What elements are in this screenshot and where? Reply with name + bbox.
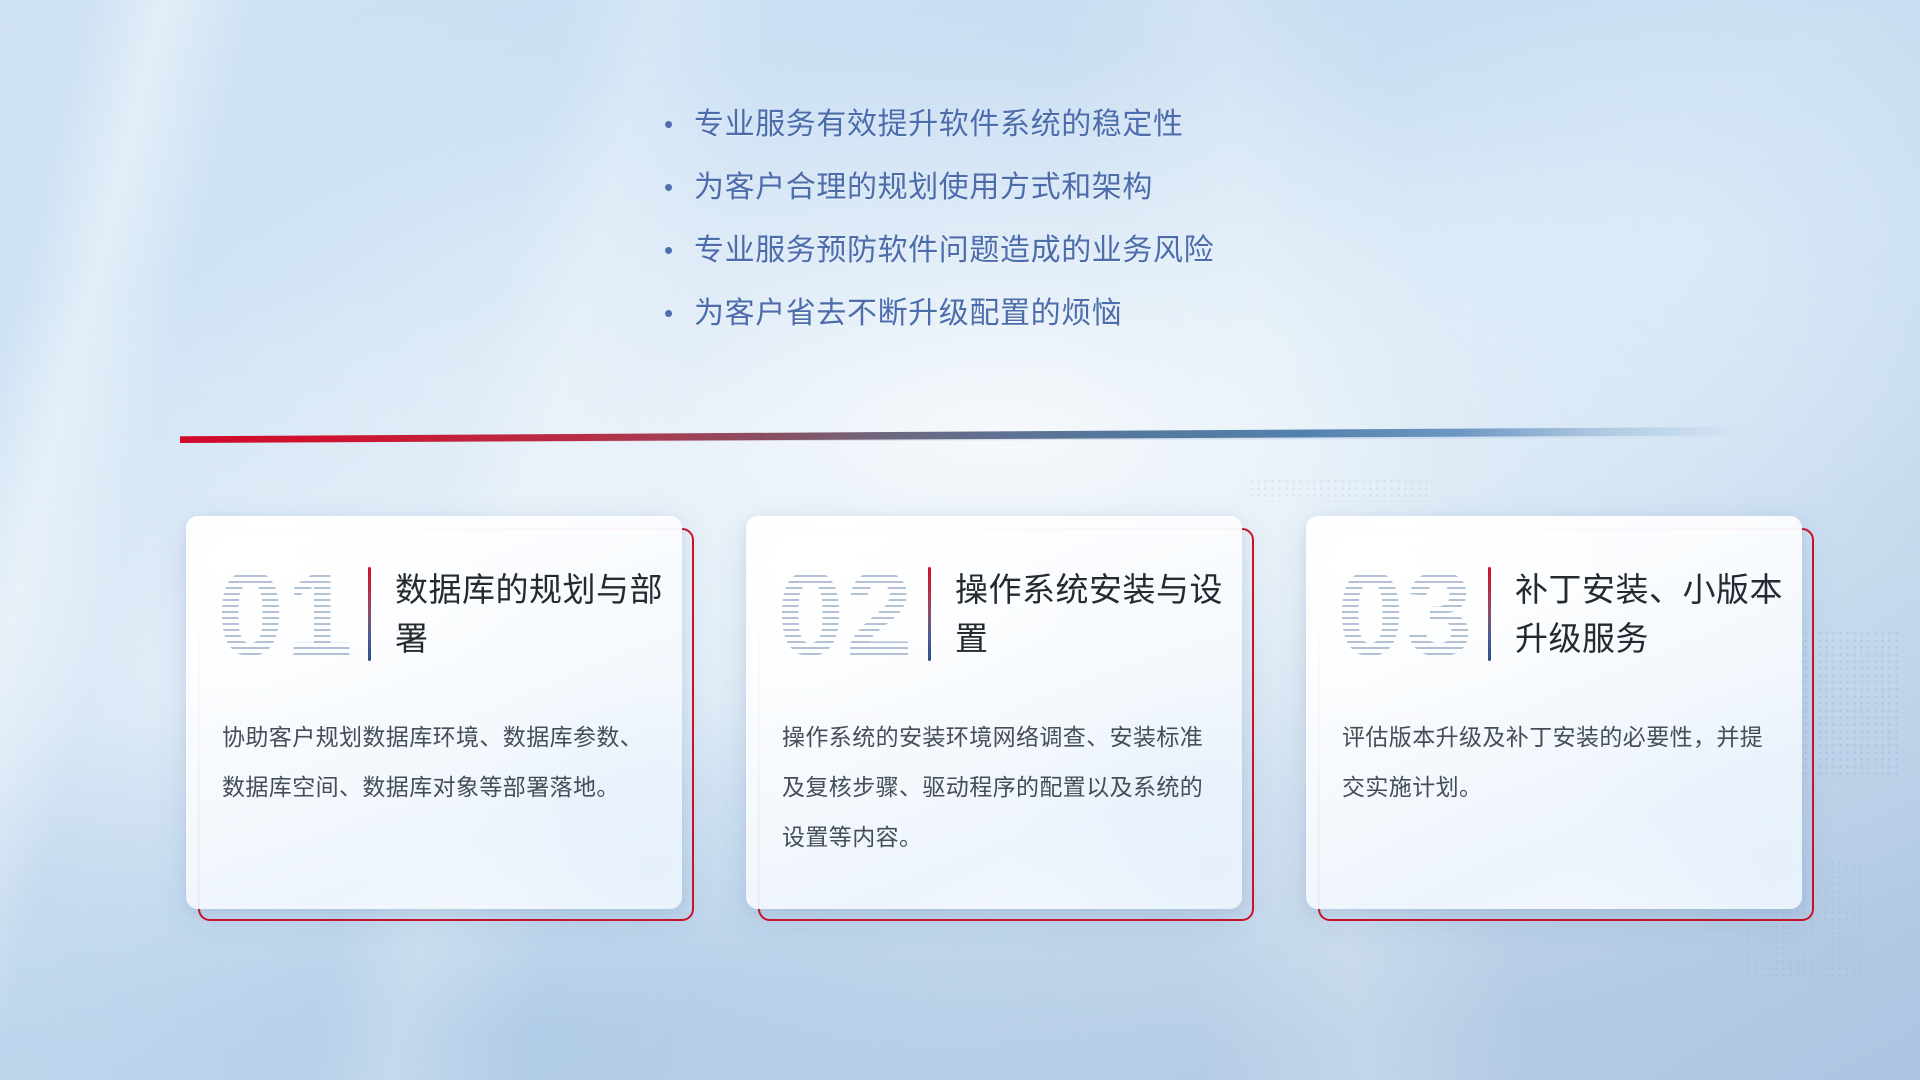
service-card[interactable]: 03 补丁安装、小版本升级服务 评估版本升级及补丁安装的必要性，并提交实施计划。 (1306, 516, 1802, 909)
bullet-item-label: 为客户合理的规划使用方式和架构 (694, 167, 1153, 208)
bullet-item-label: 专业服务有效提升软件系统的稳定性 (694, 104, 1184, 145)
section-divider-wedge (180, 427, 1740, 443)
service-card-description: 操作系统的安装环境网络调查、安装标准及复核步骤、驱动程序的配置以及系统的设置等内… (746, 712, 1242, 862)
bullet-dot-icon: • (660, 167, 694, 208)
service-card[interactable]: 02 操作系统安装与设置 操作系统的安装环境网络调查、安装标准及复核步骤、驱动程… (746, 516, 1242, 909)
section-divider (180, 427, 1740, 443)
service-card-header: 01 数据库的规划与部署 (186, 516, 682, 712)
service-card-surface[interactable]: 03 补丁安装、小版本升级服务 评估版本升级及补丁安装的必要性，并提交实施计划。 (1306, 516, 1802, 909)
service-card-header: 03 补丁安装、小版本升级服务 (1306, 516, 1802, 712)
bullet-item: • 专业服务有效提升软件系统的稳定性 (660, 104, 1480, 167)
service-card-description: 协助客户规划数据库环境、数据库参数、数据库空间、数据库对象等部署落地。 (186, 712, 682, 812)
service-card-divider (368, 567, 371, 661)
service-card-list: 01 数据库的规划与部署 协助客户规划数据库环境、数据库参数、数据库空间、数据库… (0, 516, 1920, 909)
service-card-number: 03 (1330, 551, 1482, 677)
bullet-dot-icon: • (660, 293, 694, 334)
slide-canvas: • 专业服务有效提升软件系统的稳定性 • 为客户合理的规划使用方式和架构 • 专… (0, 0, 1920, 1080)
service-card-title: 补丁安装、小版本升级服务 (1515, 565, 1802, 663)
bullet-item: • 为客户合理的规划使用方式和架构 (660, 167, 1480, 230)
service-card-number: 02 (770, 551, 922, 677)
service-card-title: 数据库的规划与部署 (395, 565, 682, 663)
service-card-divider (1488, 567, 1491, 661)
service-card-title: 操作系统安装与设置 (955, 565, 1242, 663)
bullet-item: • 专业服务预防软件问题造成的业务风险 (660, 230, 1480, 293)
bullet-item: • 为客户省去不断升级配置的烦恼 (660, 293, 1480, 356)
service-card-header: 02 操作系统安装与设置 (746, 516, 1242, 712)
service-card[interactable]: 01 数据库的规划与部署 协助客户规划数据库环境、数据库参数、数据库空间、数据库… (186, 516, 682, 909)
bullet-dot-icon: • (660, 104, 694, 145)
benefits-bullet-list: • 专业服务有效提升软件系统的稳定性 • 为客户合理的规划使用方式和架构 • 专… (660, 104, 1480, 356)
service-card-divider (928, 567, 931, 661)
service-card-number: 01 (210, 551, 362, 677)
bullet-item-label: 为客户省去不断升级配置的烦恼 (694, 293, 1122, 334)
bullet-item-label: 专业服务预防软件问题造成的业务风险 (694, 230, 1214, 271)
service-card-description: 评估版本升级及补丁安装的必要性，并提交实施计划。 (1306, 712, 1802, 812)
service-card-surface[interactable]: 02 操作系统安装与设置 操作系统的安装环境网络调查、安装标准及复核步骤、驱动程… (746, 516, 1242, 909)
service-card-surface[interactable]: 01 数据库的规划与部署 协助客户规划数据库环境、数据库参数、数据库空间、数据库… (186, 516, 682, 909)
bullet-dot-icon: • (660, 230, 694, 271)
decorative-dot-grid-top (1248, 478, 1428, 502)
